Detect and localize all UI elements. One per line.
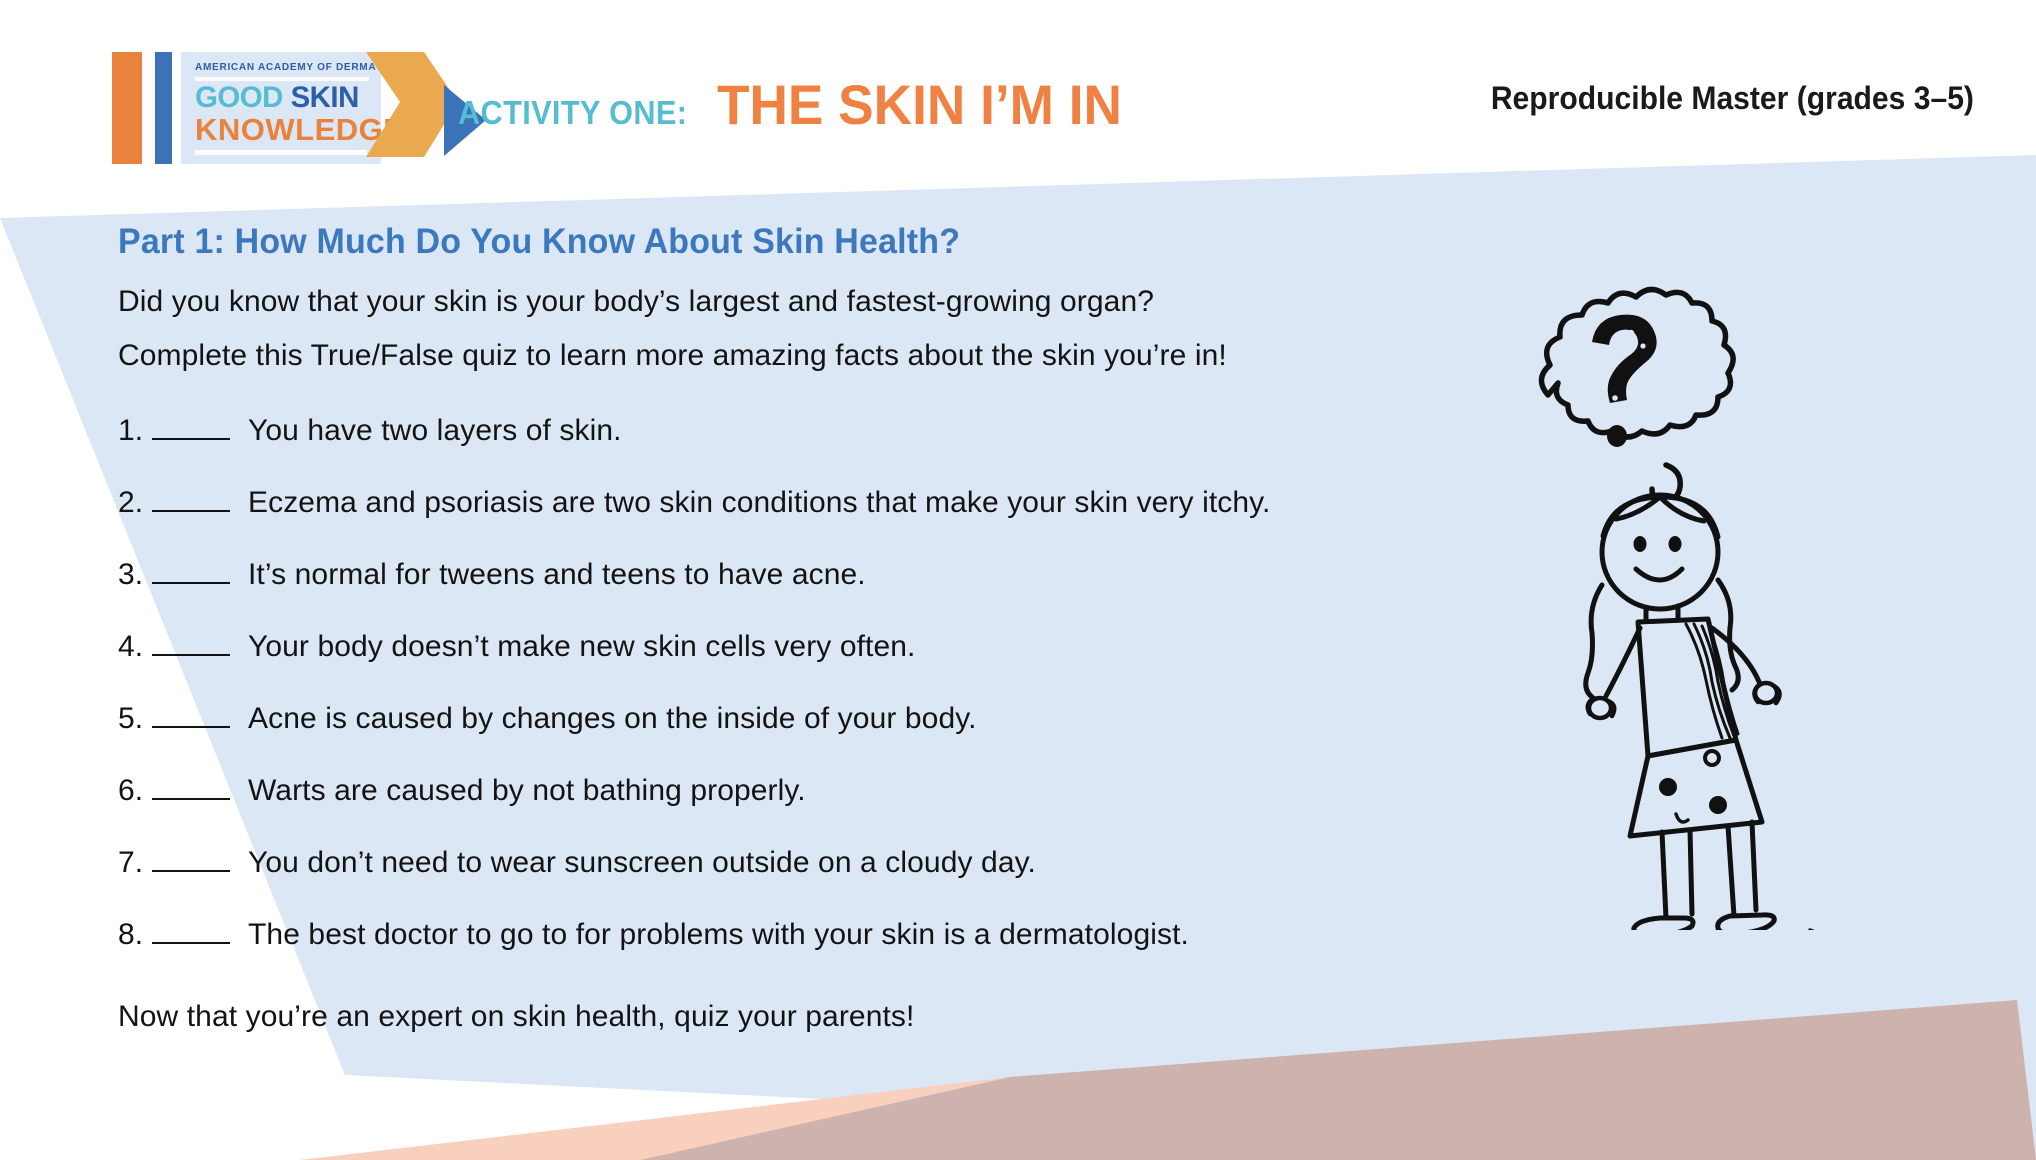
quiz-answer-blank[interactable] (152, 420, 230, 440)
quiz-answer-blank[interactable] (152, 636, 230, 656)
reproducible-master-note: Reproducible Master (grades 3–5) (1491, 80, 1974, 117)
intro-line-2: Complete this True/False quiz to learn m… (118, 339, 1227, 373)
quiz-item-number: 5. (118, 702, 152, 736)
skirt-dot (1659, 778, 1677, 796)
activity-label: ACTIVITY ONE: (458, 94, 687, 132)
girl-with-thought-bubble-illustration (1490, 280, 1850, 930)
logo-blue-bar (155, 52, 172, 164)
quiz-answer-blank[interactable] (152, 852, 230, 872)
quiz-answer-blank[interactable] (152, 780, 230, 800)
quiz-item-text: It’s normal for tweens and teens to have… (248, 558, 1468, 592)
skirt-dot (1709, 796, 1727, 814)
quiz-item-number: 3. (118, 558, 152, 592)
right-leg (1728, 826, 1734, 916)
logo-word-knowledge: KNOWLEDGE (195, 114, 369, 145)
intro-line-1: Did you know that your skin is your body… (118, 285, 1154, 319)
right-eye (1669, 536, 1682, 552)
quiz-item: 2. Eczema and psoriasis are two skin con… (118, 486, 1468, 558)
quiz-item-text: You have two layers of skin. (248, 414, 1468, 448)
quiz-item: 4. Your body doesn’t make new skin cells… (118, 630, 1468, 702)
quiz-item-number: 8. (118, 918, 152, 952)
left-shoe (1634, 918, 1693, 930)
skirt (1630, 740, 1762, 836)
logo-wordmark-line-1: GOOD SKIN (195, 83, 366, 113)
page-title: THE SKIN I’M IN (717, 72, 1122, 137)
quiz-answer-blank[interactable] (152, 708, 230, 728)
right-shoe (1718, 915, 1775, 930)
quiz-item-text: Acne is caused by changes on the inside … (248, 702, 1468, 736)
left-leg-inner (1690, 830, 1692, 914)
quiz-item-text: The best doctor to go to for problems wi… (248, 918, 1468, 952)
quiz-item: 5. Acne is caused by changes on the insi… (118, 702, 1468, 774)
quiz-item-number: 7. (118, 846, 152, 880)
logo-word-skin: SKIN (291, 81, 359, 114)
logo-rule-bottom (195, 150, 367, 155)
logo-orange-bar (112, 52, 142, 164)
left-leg (1662, 832, 1666, 918)
quiz-item-number: 4. (118, 630, 152, 664)
page-header: AMERICAN ACADEMY OF DERMATOLOGY GOOD SKI… (0, 0, 2036, 180)
quiz-item-number: 2. (118, 486, 152, 520)
logo-bar-gap (142, 52, 155, 164)
activity-title-row: ACTIVITY ONE: THE SKIN I’M IN (458, 72, 1143, 137)
quiz-list: 1. You have two layers of skin. 2. Eczem… (118, 414, 1468, 990)
aad-good-skin-knowledge-logo: AMERICAN ACADEMY OF DERMATOLOGY GOOD SKI… (112, 52, 381, 164)
quiz-answer-blank[interactable] (152, 492, 230, 512)
logo-org-line: AMERICAN ACADEMY OF DERMATOLOGY (195, 61, 362, 73)
quiz-item: 3. It’s normal for tweens and teens to h… (118, 558, 1468, 630)
quiz-answer-blank[interactable] (152, 924, 230, 944)
closing-line: Now that you’re an expert on skin health… (118, 1000, 914, 1034)
left-eye (1634, 536, 1647, 552)
right-hand (1754, 683, 1779, 703)
quiz-item: 6. Warts are caused by not bathing prope… (118, 774, 1468, 846)
right-leg-inner (1752, 822, 1756, 910)
logo-word-good: GOOD (195, 81, 283, 114)
quiz-answer-blank[interactable] (152, 564, 230, 584)
quiz-item: 1. You have two layers of skin. (118, 414, 1468, 486)
quiz-item-text: Eczema and psoriasis are two skin condit… (248, 486, 1468, 520)
salmon-panel-lower (300, 1077, 1010, 1160)
logo-plate: AMERICAN ACADEMY OF DERMATOLOGY GOOD SKI… (181, 52, 381, 164)
part-heading: Part 1: How Much Do You Know About Skin … (118, 222, 960, 262)
worksheet-page: AMERICAN ACADEMY OF DERMATOLOGY GOOD SKI… (0, 0, 2036, 1160)
logo-bar-gap-2 (172, 52, 181, 164)
girl-figure (1586, 495, 1820, 930)
quiz-item-text: Warts are caused by not bathing properly… (248, 774, 1468, 808)
left-arm (1606, 628, 1640, 696)
quiz-item-number: 1. (118, 414, 152, 448)
quiz-item-number: 6. (118, 774, 152, 808)
quiz-item: 7. You don’t need to wear sunscreen outs… (118, 846, 1468, 918)
quiz-item-text: Your body doesn’t make new skin cells ve… (248, 630, 1468, 664)
quiz-item-text: You don’t need to wear sunscreen outside… (248, 846, 1468, 880)
quiz-item: 8. The best doctor to go to for problems… (118, 918, 1468, 990)
left-hand (1588, 698, 1615, 718)
